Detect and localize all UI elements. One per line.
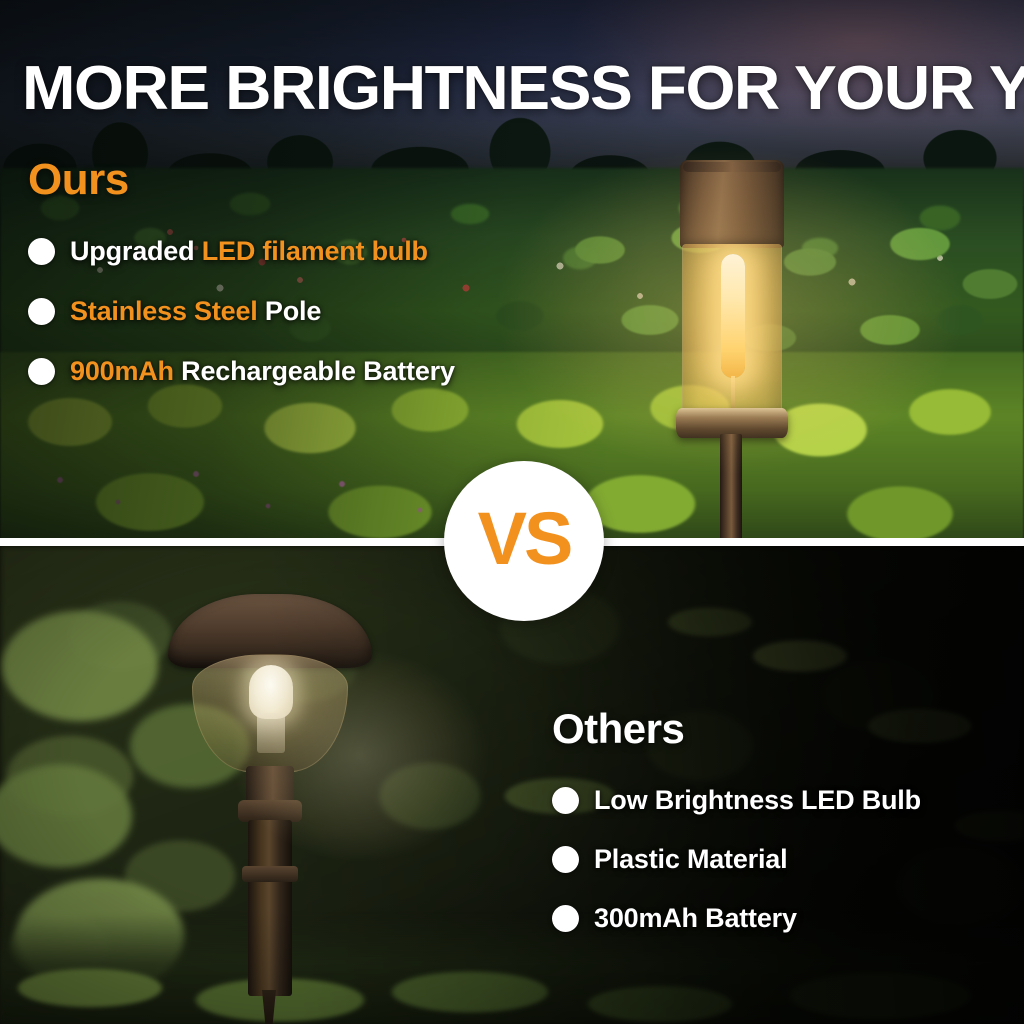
comparison-poster: MORE BRIGHTNESS FOR YOUR YARD Ours Upgra… — [0, 0, 1024, 1024]
ours-bullet-2-highlight: Stainless Steel — [70, 296, 258, 326]
pole-clamp — [242, 866, 298, 882]
list-item: 300mAh Battery — [552, 894, 921, 942]
bullet-dot-icon — [28, 238, 55, 265]
ours-bullet-3: 900mAh Rechargeable Battery — [70, 356, 455, 387]
list-item: Upgraded LED filament bulb — [28, 226, 455, 276]
list-item: 900mAh Rechargeable Battery — [28, 346, 455, 396]
list-item: Plastic Material — [552, 835, 921, 883]
ours-bullet-1-highlight: LED filament bulb — [202, 236, 428, 266]
others-bullet-2: Plastic Material — [594, 844, 787, 875]
ours-path-light — [666, 160, 794, 542]
bullet-dot-icon — [28, 358, 55, 385]
ours-bullet-3-highlight: 900mAh — [70, 356, 174, 386]
ours-bullet-2-tail: Pole — [258, 296, 322, 326]
plastic-shade — [192, 654, 348, 772]
list-item: Low Brightness LED Bulb — [552, 776, 921, 824]
ours-bullet-3-tail: Rechargeable Battery — [174, 356, 455, 386]
led-filament-bulb — [721, 254, 745, 378]
bullet-dot-icon — [28, 298, 55, 325]
page-title: MORE BRIGHTNESS FOR YOUR YARD — [22, 58, 1024, 120]
others-bullet-list: Low Brightness LED Bulb Plastic Material… — [552, 776, 921, 942]
bulb-stem — [731, 376, 735, 412]
others-bullet-1: Low Brightness LED Bulb — [594, 785, 921, 816]
ground-spike — [262, 990, 276, 1024]
bullet-dot-icon — [552, 787, 579, 814]
lamp-glass-tube — [682, 244, 782, 416]
others-path-light — [150, 594, 390, 1024]
ours-bullet-2: Stainless Steel Pole — [70, 296, 321, 327]
ours-feature-block: Ours Upgraded LED filament bulb Stainles… — [28, 158, 455, 396]
bulb-socket — [257, 713, 285, 753]
others-bullet-3: 300mAh Battery — [594, 903, 797, 934]
bullet-dot-icon — [552, 905, 579, 932]
vs-label: VS — [478, 502, 571, 576]
plastic-pole — [248, 820, 292, 996]
low-brightness-bulb — [249, 665, 293, 719]
vs-badge: VS — [444, 461, 604, 621]
ours-bullet-1-lead: Upgraded — [70, 236, 202, 266]
list-item: Stainless Steel Pole — [28, 286, 455, 336]
stainless-steel-pole — [720, 434, 742, 542]
ours-bullet-1: Upgraded LED filament bulb — [70, 236, 428, 267]
ours-heading: Ours — [28, 158, 455, 202]
ours-bullet-list: Upgraded LED filament bulb Stainless Ste… — [28, 226, 455, 396]
bullet-dot-icon — [552, 846, 579, 873]
others-feature-block: Others Low Brightness LED Bulb Plastic M… — [552, 708, 921, 942]
lamp-cap — [680, 160, 784, 248]
others-heading: Others — [552, 708, 921, 750]
lamp-collar — [238, 800, 302, 822]
